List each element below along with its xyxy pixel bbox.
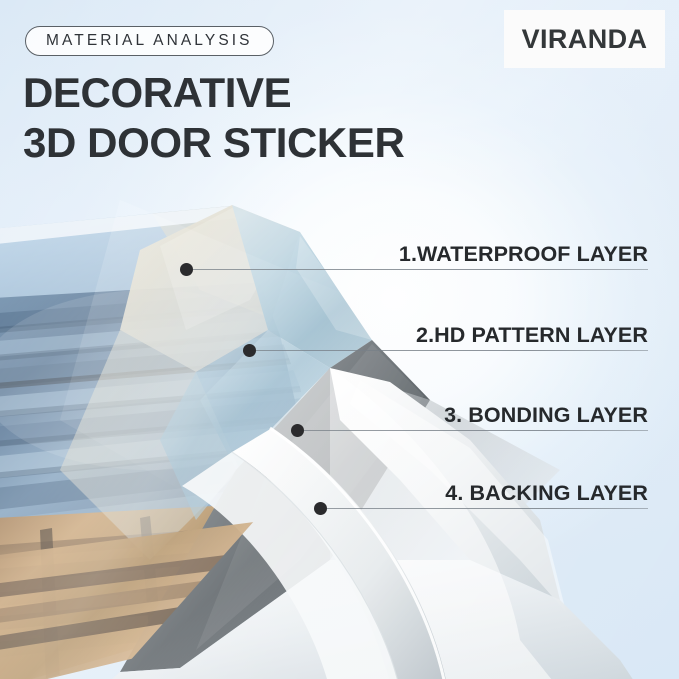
callout-dot-2: [243, 344, 256, 357]
callout-label-1: 1.WATERPROOF LAYER: [399, 242, 648, 267]
callout-dot-3: [291, 424, 304, 437]
title-line-2: 3D DOOR STICKER: [23, 118, 404, 168]
callout-label-2: 2.HD PATTERN LAYER: [416, 323, 648, 348]
brand-logo-box: VIRANDA: [504, 10, 665, 68]
callout-rule-1: [193, 269, 648, 270]
callout-label-3: 3. BONDING LAYER: [444, 403, 648, 428]
callout-rule-2: [256, 350, 648, 351]
callout-rule-3: [304, 430, 648, 431]
brand-name: VIRANDA: [522, 24, 648, 55]
material-analysis-badge: MATERIAL ANALYSIS: [25, 26, 274, 56]
badge-label: MATERIAL ANALYSIS: [46, 32, 253, 50]
title-line-1: DECORATIVE: [23, 68, 404, 118]
callout-dot-1: [180, 263, 193, 276]
callout-label-4: 4. BACKING LAYER: [445, 481, 648, 506]
poster-canvas: MATERIAL ANALYSIS DECORATIVE 3D DOOR STI…: [0, 0, 679, 679]
page-title: DECORATIVE 3D DOOR STICKER: [23, 68, 404, 168]
callout-rule-4: [327, 508, 648, 509]
callout-dot-4: [314, 502, 327, 515]
